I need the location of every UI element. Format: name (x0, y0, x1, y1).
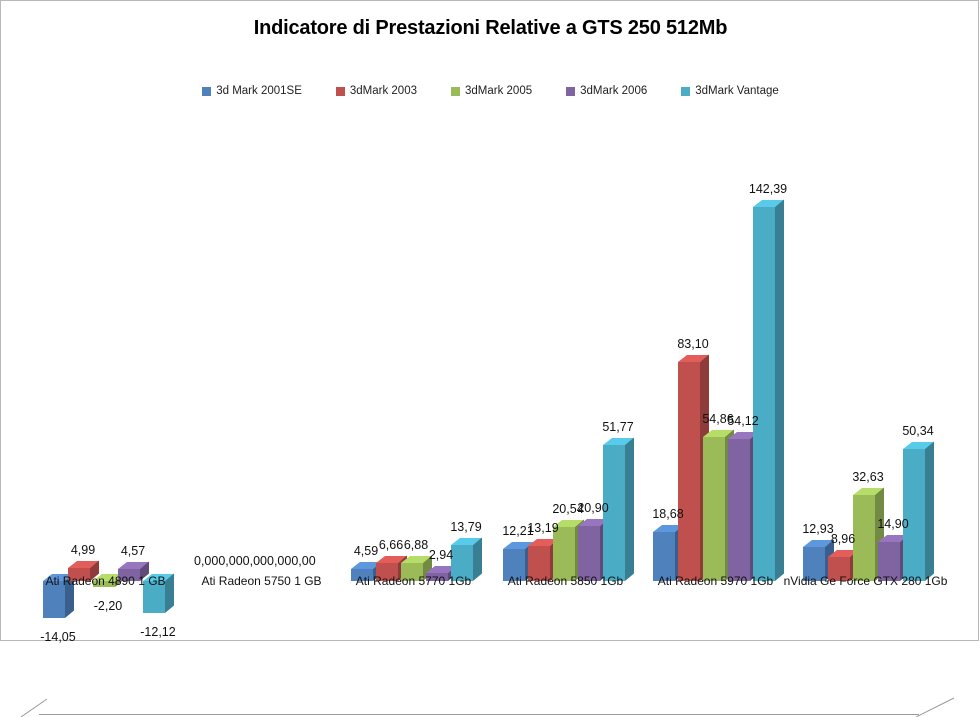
bar-value-label: 32,63 (840, 470, 896, 484)
bar-value-label: 18,68 (640, 507, 696, 521)
bar-front (753, 207, 775, 581)
axis-baseline (39, 714, 919, 715)
plot-area: -14,054,99-2,204,57-12,12Ati Radeon 4890… (1, 111, 980, 581)
bar-front (703, 437, 725, 581)
zero-group-value-label: 0,000,000,000,000,00 (194, 554, 316, 568)
chart-legend: 3d Mark 2001SE 3dMark 2003 3dMark 2005 3… (1, 85, 980, 97)
legend-label-3dmark2006: 3dMark 2006 (580, 85, 647, 97)
bar-value-label: 20,90 (565, 501, 621, 515)
category-label-2: Ati Radeon 5750 1 GB (177, 574, 347, 588)
legend-swatch-3dmarkvantage (681, 87, 690, 96)
legend-swatch-3dmark2001se (202, 87, 211, 96)
legend-item-3dmark2006[interactable]: 3dMark 2006 (566, 85, 647, 97)
legend-label-3dmarkvantage: 3dMark Vantage (695, 85, 779, 97)
bar-value-label: 13,19 (515, 521, 571, 535)
category-label-4: Ati Radeon 5850 1Gb (481, 574, 651, 588)
legend-label-3dmark2001se: 3d Mark 2001SE (216, 85, 302, 97)
legend-item-3dmark2001se[interactable]: 3d Mark 2001SE (202, 85, 302, 97)
category-label-3: Ati Radeon 5770 1Gb (329, 574, 499, 588)
legend-swatch-3dmark2003 (336, 87, 345, 96)
bar-5-2[interactable] (678, 362, 700, 581)
legend-item-3dmarkvantage[interactable]: 3dMark Vantage (681, 85, 779, 97)
bar-value-label: 50,34 (890, 424, 946, 438)
bar-side-face (775, 199, 784, 581)
bar-value-label: 142,39 (740, 182, 796, 196)
bar-value-label: 14,90 (865, 517, 921, 531)
bar-value-label: -12,12 (130, 625, 186, 639)
legend-swatch-3dmark2006 (566, 87, 575, 96)
legend-item-3dmark2003[interactable]: 3dMark 2003 (336, 85, 417, 97)
bar-side-face (925, 441, 934, 581)
legend-item-3dmark2005[interactable]: 3dMark 2005 (451, 85, 532, 97)
axis-floor-right-edge (916, 697, 956, 717)
legend-swatch-3dmark2005 (451, 87, 460, 96)
category-label-1: Ati Radeon 4890 1 GB (21, 574, 191, 588)
bar-front (728, 439, 750, 581)
category-label-6: nVidia Ge Force GTX 280 1Gb (781, 574, 951, 589)
bar-value-label: -2,20 (80, 599, 136, 613)
bar-value-label: 51,77 (590, 420, 646, 434)
bar-5-5[interactable] (753, 207, 775, 581)
bar-front (903, 449, 925, 581)
bar-value-label: 8,96 (815, 532, 871, 546)
bar-value-label: 4,57 (105, 544, 161, 558)
bar-value-label: 83,10 (665, 337, 721, 351)
category-label-5: Ati Radeon 5970 1Gb (631, 574, 801, 588)
bar-value-label: 54,12 (715, 414, 771, 428)
legend-label-3dmark2003: 3dMark 2003 (350, 85, 417, 97)
bar-side-face (625, 437, 634, 581)
legend-label-3dmark2005: 3dMark 2005 (465, 85, 532, 97)
bar-value-label: 4,99 (55, 543, 111, 557)
bar-4-4[interactable] (578, 526, 600, 581)
chart-frame: Indicatore di Prestazioni Relative a GTS… (0, 0, 979, 641)
bar-5-3[interactable] (703, 437, 725, 581)
bar-front (678, 362, 700, 581)
bar-front (578, 526, 600, 581)
bar-value-label: 2,94 (413, 548, 469, 562)
bar-6-5[interactable] (903, 449, 925, 581)
bar-5-4[interactable] (728, 439, 750, 581)
bar-value-label: 13,79 (438, 520, 494, 534)
chart-title: Indicatore di Prestazioni Relative a GTS… (1, 17, 980, 40)
